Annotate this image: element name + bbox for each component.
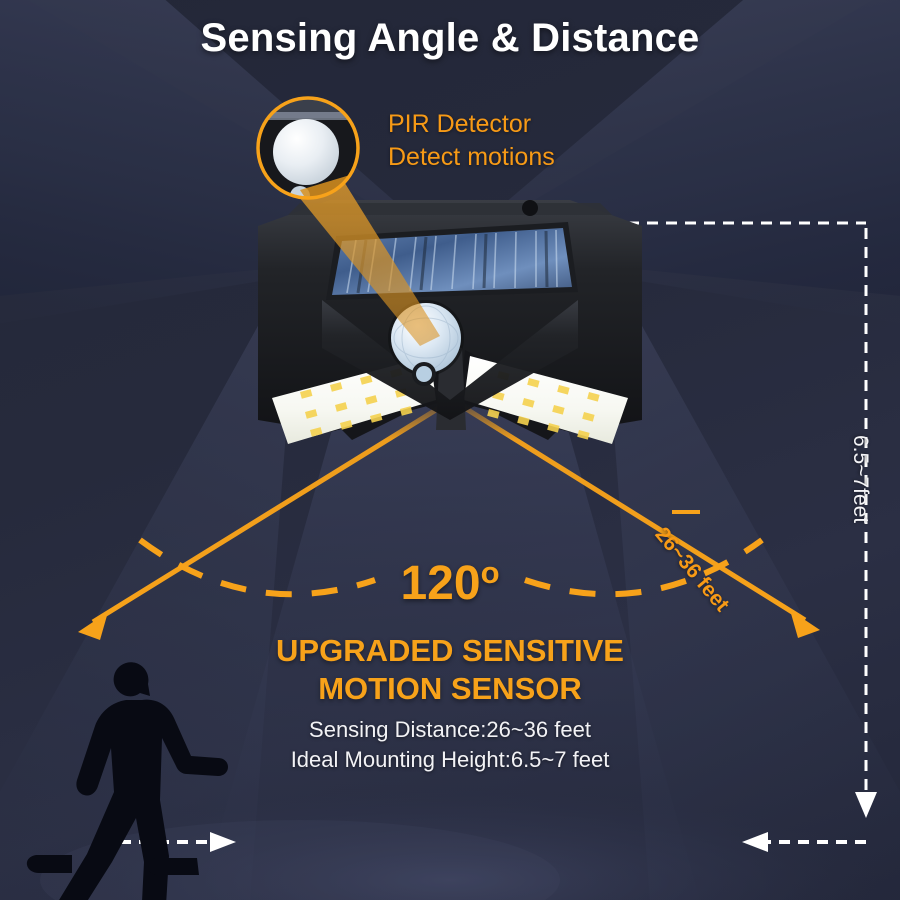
detection-angle-value: 120 [400,557,480,610]
degree-symbol: o [481,555,500,590]
vertical-height-label: 6.5~7feet [848,435,872,523]
pir-callout-text: PIR Detector Detect motions [388,108,555,174]
pir-callout-line-2: Detect motions [388,141,555,174]
page-title: Sensing Angle & Distance [0,16,900,61]
spec-mounting-height: Ideal Mounting Height:6.5~7 feet [0,745,900,775]
headline-line-1: UPGRADED SENSITIVE [0,632,900,670]
pir-callout-line-1: PIR Detector [388,108,555,141]
headline-line-2: MOTION SENSOR [0,670,900,708]
infographic-canvas: Sensing Angle & Distance PIR Detector De… [0,0,900,900]
solar-motion-sensor-wall-light [258,200,642,444]
spec-text-block: Sensing Distance:26~36 feet Ideal Mounti… [0,715,900,775]
detection-angle-label: 120o [0,555,900,611]
headline-text: UPGRADED SENSITIVE MOTION SENSOR [0,632,900,708]
spec-sensing-distance: Sensing Distance:26~36 feet [0,715,900,745]
